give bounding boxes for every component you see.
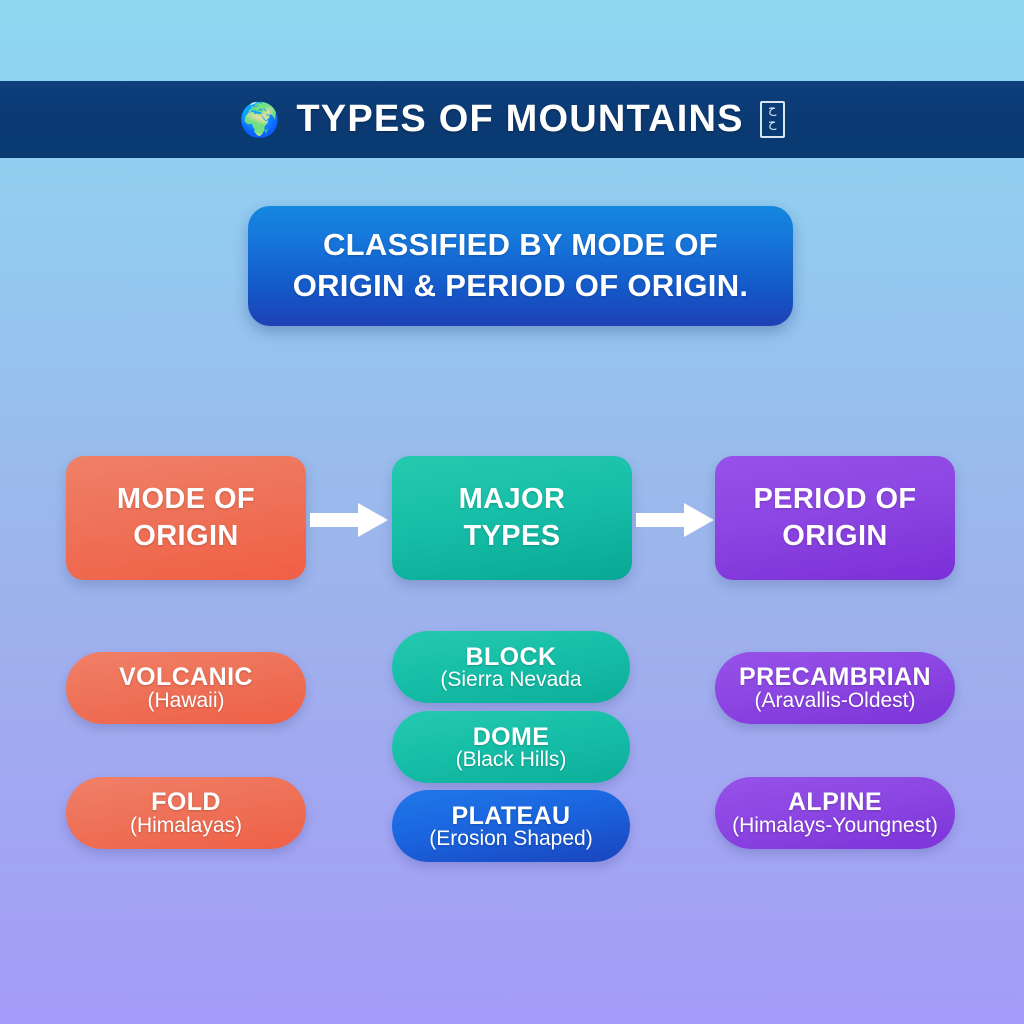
pill-fold: FOLD (Himalayas) [66, 777, 306, 849]
globe-icon: 🌍 [239, 103, 280, 136]
arrow-right-icon-1 [310, 503, 388, 537]
pill-alpine-subtitle: (Himalays-Youngnest) [732, 814, 938, 838]
subtitle-text: CLASSIFIED BY MODE OF ORIGIN & PERIOD OF… [293, 225, 749, 307]
pill-fold-title: FOLD [151, 788, 221, 817]
card-major-types-line-2: TYPES [459, 518, 566, 555]
infographic-poster: 🌍 TYPES OF MOUNTAINS ح ح CLASSIFIED BY M… [0, 0, 1024, 1024]
subtitle-line-2: ORIGIN & PERIOD OF ORIGIN. [293, 266, 749, 307]
header-bar: 🌍 TYPES OF MOUNTAINS ح ح [0, 81, 1024, 158]
card-period-of-origin-line-1: PERIOD OF [753, 481, 916, 518]
card-period-of-origin-line-2: ORIGIN [753, 518, 916, 555]
card-major-types: MAJOR TYPES [392, 456, 632, 580]
pill-volcanic-subtitle: (Hawaii) [147, 689, 224, 713]
missing-glyph-icon: ح ح [760, 101, 785, 138]
pill-precambrian-subtitle: (Aravallis-Oldest) [754, 689, 915, 713]
arrow-right-icon-2 [636, 503, 714, 537]
pill-dome: DOME (Black Hills) [392, 711, 630, 783]
pill-precambrian-title: PRECAMBRIAN [739, 663, 931, 692]
pill-block-subtitle: (Sierra Nevada [440, 668, 581, 692]
pill-block: BLOCK (Sierra Nevada [392, 631, 630, 703]
card-mode-of-origin-line-2: ORIGIN [117, 518, 255, 555]
subtitle-banner: CLASSIFIED BY MODE OF ORIGIN & PERIOD OF… [248, 206, 793, 326]
pill-precambrian: PRECAMBRIAN (Aravallis-Oldest) [715, 652, 955, 724]
card-period-of-origin-label: PERIOD OF ORIGIN [753, 481, 916, 555]
pill-alpine-title: ALPINE [788, 788, 882, 817]
pill-plateau: PLATEAU (Erosion Shaped) [392, 790, 630, 862]
pill-volcanic: VOLCANIC (Hawaii) [66, 652, 306, 724]
card-major-types-line-1: MAJOR [459, 481, 566, 518]
page-title: TYPES OF MOUNTAINS [296, 98, 743, 141]
subtitle-line-1: CLASSIFIED BY MODE OF [293, 225, 749, 266]
card-mode-of-origin: MODE OF ORIGIN [66, 456, 306, 580]
pill-alpine: ALPINE (Himalays-Youngnest) [715, 777, 955, 849]
missing-glyph-top: ح [762, 103, 783, 117]
pill-fold-subtitle: (Himalayas) [130, 814, 242, 838]
card-period-of-origin: PERIOD OF ORIGIN [715, 456, 955, 580]
pill-dome-subtitle: (Black Hills) [456, 748, 567, 772]
card-mode-of-origin-label: MODE OF ORIGIN [117, 481, 255, 555]
pill-volcanic-title: VOLCANIC [119, 663, 253, 692]
pill-plateau-subtitle: (Erosion Shaped) [429, 827, 592, 851]
missing-glyph-bottom: ح [762, 117, 783, 131]
card-major-types-label: MAJOR TYPES [459, 481, 566, 555]
card-mode-of-origin-line-1: MODE OF [117, 481, 255, 518]
